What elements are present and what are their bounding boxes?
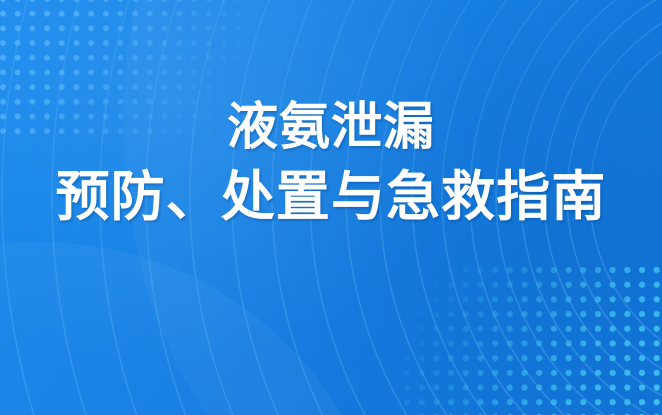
title-block: 液氨泄漏 预防、处置与急救指南 [0, 0, 662, 415]
title-line-primary: 液氨泄漏 [227, 96, 435, 158]
title-line-secondary: 预防、处置与急救指南 [56, 164, 607, 230]
title-banner: 液氨泄漏 预防、处置与急救指南 [0, 0, 662, 415]
